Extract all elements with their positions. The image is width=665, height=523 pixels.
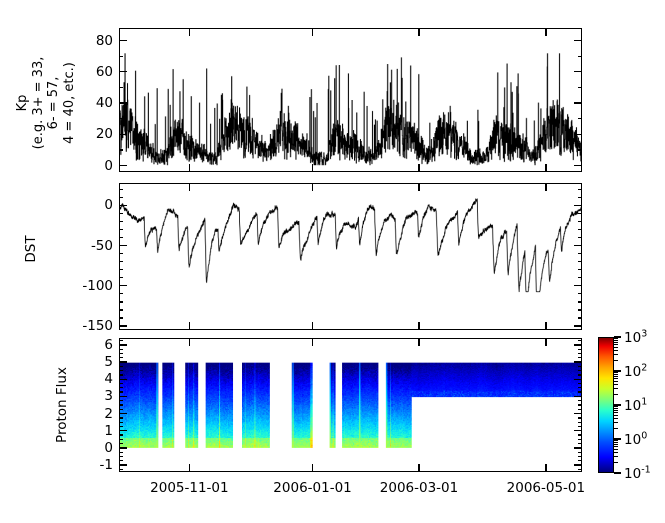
kp-title-line1: Kp — [15, 28, 31, 178]
minor-tick — [119, 370, 123, 371]
colorbar-minor-tick — [614, 428, 618, 429]
minor-tick — [119, 439, 123, 440]
ytick-label: -50 — [77, 238, 113, 254]
minor-tick — [578, 422, 582, 423]
minor-tick — [578, 391, 582, 392]
major-tick — [574, 102, 582, 103]
xtick-label: 2006-05-01 — [507, 480, 585, 496]
colorbar-minor-tick — [614, 456, 618, 457]
ytick-label: 6 — [77, 337, 113, 353]
colorbar-minor-tick — [614, 381, 618, 382]
minor-tick — [119, 460, 123, 461]
kp-title-line4: 4 = 40, etc.) — [62, 28, 78, 178]
major-tick — [189, 28, 190, 36]
minor-tick — [578, 269, 582, 270]
major-tick — [574, 447, 582, 448]
minor-tick — [578, 118, 582, 119]
major-tick — [119, 447, 127, 448]
colorbar-major-tick — [614, 370, 621, 371]
major-tick — [119, 285, 127, 286]
major-tick — [312, 183, 313, 191]
colorbar-minor-tick — [614, 406, 618, 407]
minor-tick — [119, 253, 123, 254]
colorbar-minor-tick — [614, 342, 618, 343]
minor-tick — [119, 400, 123, 401]
major-tick — [312, 338, 313, 346]
minor-tick — [119, 452, 123, 453]
minor-tick — [578, 56, 582, 57]
minor-tick — [578, 149, 582, 150]
figure-root: 020406080 Kp (e.g. 3+ = 33, 6- = 57, 4 =… — [0, 0, 665, 523]
colorbar-minor-tick — [614, 354, 618, 355]
colorbar-tick-label: 10-1 — [624, 464, 651, 482]
minor-tick — [578, 439, 582, 440]
ytick-label: 1 — [77, 423, 113, 439]
minor-tick — [578, 443, 582, 444]
major-tick — [545, 164, 546, 172]
minor-tick — [578, 237, 582, 238]
minor-tick — [578, 197, 582, 198]
minor-tick — [578, 261, 582, 262]
major-tick — [119, 71, 127, 72]
minor-tick — [119, 301, 123, 302]
major-tick — [574, 71, 582, 72]
major-tick — [418, 338, 419, 346]
colorbar-minor-tick — [614, 412, 618, 413]
ytick-label: -100 — [77, 278, 113, 294]
minor-tick — [119, 426, 123, 427]
colorbar-major-tick — [614, 336, 621, 337]
ytick-label: 0 — [77, 440, 113, 456]
colorbar-minor-tick — [614, 384, 618, 385]
minor-tick — [119, 366, 123, 367]
kp-index-panel — [119, 28, 582, 172]
colorbar-minor-tick — [614, 440, 618, 441]
minor-tick — [119, 349, 123, 350]
minor-tick — [578, 213, 582, 214]
minor-tick — [119, 56, 123, 57]
minor-tick — [119, 409, 123, 410]
minor-tick — [578, 357, 582, 358]
major-tick — [545, 28, 546, 36]
minor-tick — [578, 426, 582, 427]
minor-tick — [578, 434, 582, 435]
ytick-label: 4 — [77, 371, 113, 387]
colorbar-minor-tick — [614, 415, 618, 416]
colorbar-minor-tick — [614, 344, 618, 345]
major-tick — [119, 205, 127, 206]
major-tick — [545, 183, 546, 191]
colorbar-minor-tick — [614, 347, 618, 348]
minor-tick — [578, 309, 582, 310]
major-tick — [189, 183, 190, 191]
dst-axis-title: DST — [23, 235, 39, 262]
kp-title-line3: 6- = 57, — [46, 28, 62, 178]
dst-index-panel — [119, 183, 582, 330]
minor-tick — [578, 417, 582, 418]
major-tick — [119, 102, 127, 103]
major-tick — [119, 464, 127, 465]
minor-tick — [578, 409, 582, 410]
minor-tick — [119, 269, 123, 270]
minor-tick — [119, 149, 123, 150]
proton-flux-spectrogram-canvas — [120, 339, 581, 471]
minor-tick — [119, 309, 123, 310]
colorbar-minor-tick — [614, 388, 618, 389]
major-tick — [574, 344, 582, 345]
major-tick — [312, 164, 313, 172]
minor-tick — [578, 452, 582, 453]
colorbar-tick-label: 100 — [624, 430, 647, 448]
minor-tick — [578, 349, 582, 350]
minor-tick — [119, 229, 123, 230]
xtick-label: 2006-01-01 — [273, 480, 351, 496]
minor-tick — [119, 391, 123, 392]
minor-tick — [119, 417, 123, 418]
major-tick — [418, 28, 419, 36]
minor-tick — [578, 400, 582, 401]
colorbar-minor-tick — [614, 462, 618, 463]
colorbar-tick-label: 101 — [624, 396, 647, 414]
minor-tick — [578, 366, 582, 367]
minor-tick — [119, 293, 123, 294]
major-tick — [574, 430, 582, 431]
colorbar-minor-tick — [614, 422, 618, 423]
minor-tick — [578, 229, 582, 230]
major-tick — [574, 464, 582, 465]
colorbar-minor-tick — [614, 446, 618, 447]
major-tick — [574, 379, 582, 380]
major-tick — [119, 396, 127, 397]
colorbar-major-tick — [614, 472, 621, 473]
minor-tick — [119, 213, 123, 214]
minor-tick — [119, 374, 123, 375]
major-tick — [312, 322, 313, 330]
minor-tick — [119, 277, 123, 278]
colorbar-major-tick — [614, 404, 621, 405]
colorbar-minor-tick — [614, 350, 618, 351]
colorbar-minor-tick — [614, 378, 618, 379]
minor-tick — [578, 404, 582, 405]
colorbar-minor-tick — [614, 449, 618, 450]
colorbar-minor-tick — [614, 374, 618, 375]
minor-tick — [578, 456, 582, 457]
minor-tick — [578, 277, 582, 278]
major-tick — [119, 344, 127, 345]
major-tick — [189, 464, 190, 472]
minor-tick — [578, 374, 582, 375]
minor-tick — [119, 118, 123, 119]
colorbar-minor-tick — [614, 338, 618, 339]
minor-tick — [119, 387, 123, 388]
ytick-label: 2 — [77, 406, 113, 422]
minor-tick — [119, 189, 123, 190]
ytick-label: 60 — [77, 64, 113, 80]
minor-tick — [578, 317, 582, 318]
minor-tick — [578, 469, 582, 470]
minor-tick — [578, 383, 582, 384]
colorbar-minor-tick — [614, 360, 618, 361]
kp-title-line2: (e.g. 3+ = 33, — [31, 28, 47, 178]
minor-tick — [578, 387, 582, 388]
colorbar-minor-tick — [614, 372, 618, 373]
colorbar-minor-tick — [614, 452, 618, 453]
major-tick — [574, 40, 582, 41]
ytick-label: 5 — [77, 354, 113, 370]
proton-flux-axis-title: Proton Flux — [54, 367, 70, 443]
colorbar-minor-tick — [614, 418, 618, 419]
major-tick — [574, 285, 582, 286]
minor-tick — [578, 353, 582, 354]
major-tick — [189, 338, 190, 346]
minor-tick — [119, 422, 123, 423]
major-tick — [119, 361, 127, 362]
major-tick — [574, 165, 582, 166]
colorbar-tick-label: 103 — [624, 328, 647, 346]
minor-tick — [578, 253, 582, 254]
major-tick — [189, 164, 190, 172]
minor-tick — [119, 237, 123, 238]
major-tick — [418, 164, 419, 172]
colorbar-minor-tick — [614, 442, 618, 443]
xtick-label: 2005-11-01 — [150, 480, 228, 496]
kp-axis-title: Kp (e.g. 3+ = 33, 6- = 57, 4 = 40, etc.) — [15, 28, 77, 178]
major-tick — [119, 40, 127, 41]
major-tick — [574, 325, 582, 326]
ytick-label: 0 — [77, 158, 113, 174]
major-tick — [189, 322, 190, 330]
major-tick — [119, 430, 127, 431]
major-tick — [545, 338, 546, 346]
colorbar-minor-tick — [614, 394, 618, 395]
minor-tick — [119, 317, 123, 318]
proton-flux-panel — [119, 338, 582, 472]
major-tick — [545, 464, 546, 472]
colorbar-tick-label: 102 — [624, 362, 647, 380]
minor-tick — [119, 456, 123, 457]
minor-tick — [119, 340, 123, 341]
colorbar-minor-tick — [614, 376, 618, 377]
major-tick — [574, 361, 582, 362]
minor-tick — [119, 469, 123, 470]
major-tick — [119, 245, 127, 246]
dst-series-canvas — [120, 184, 581, 329]
xtick-label: 2006-03-01 — [380, 480, 458, 496]
minor-tick — [578, 87, 582, 88]
minor-tick — [119, 383, 123, 384]
major-tick — [119, 165, 127, 166]
minor-tick — [119, 197, 123, 198]
minor-tick — [119, 357, 123, 358]
major-tick — [119, 413, 127, 414]
major-tick — [418, 322, 419, 330]
minor-tick — [119, 434, 123, 435]
ytick-label: 3 — [77, 388, 113, 404]
colorbar — [598, 337, 614, 473]
ytick-label: 0 — [77, 197, 113, 213]
major-tick — [119, 325, 127, 326]
minor-tick — [578, 189, 582, 190]
minor-tick — [119, 353, 123, 354]
major-tick — [574, 396, 582, 397]
ytick-label: -1 — [77, 457, 113, 473]
ytick-label: -150 — [77, 318, 113, 334]
colorbar-minor-tick — [614, 408, 618, 409]
major-tick — [312, 464, 313, 472]
major-tick — [574, 413, 582, 414]
minor-tick — [119, 221, 123, 222]
colorbar-minor-tick — [614, 410, 618, 411]
colorbar-major-tick — [614, 438, 621, 439]
major-tick — [574, 245, 582, 246]
colorbar-minor-tick — [614, 444, 618, 445]
ytick-label: 40 — [77, 95, 113, 111]
colorbar-minor-tick — [614, 340, 618, 341]
minor-tick — [578, 301, 582, 302]
minor-tick — [578, 293, 582, 294]
minor-tick — [578, 221, 582, 222]
major-tick — [418, 183, 419, 191]
minor-tick — [119, 261, 123, 262]
major-tick — [545, 322, 546, 330]
major-tick — [312, 28, 313, 36]
kp-series-canvas — [120, 29, 581, 171]
minor-tick — [119, 87, 123, 88]
minor-tick — [119, 404, 123, 405]
ytick-label: 80 — [77, 33, 113, 49]
major-tick — [119, 379, 127, 380]
major-tick — [119, 134, 127, 135]
minor-tick — [578, 370, 582, 371]
major-tick — [418, 464, 419, 472]
minor-tick — [578, 340, 582, 341]
ytick-label: 20 — [77, 126, 113, 142]
minor-tick — [119, 443, 123, 444]
major-tick — [574, 205, 582, 206]
minor-tick — [578, 460, 582, 461]
major-tick — [574, 134, 582, 135]
